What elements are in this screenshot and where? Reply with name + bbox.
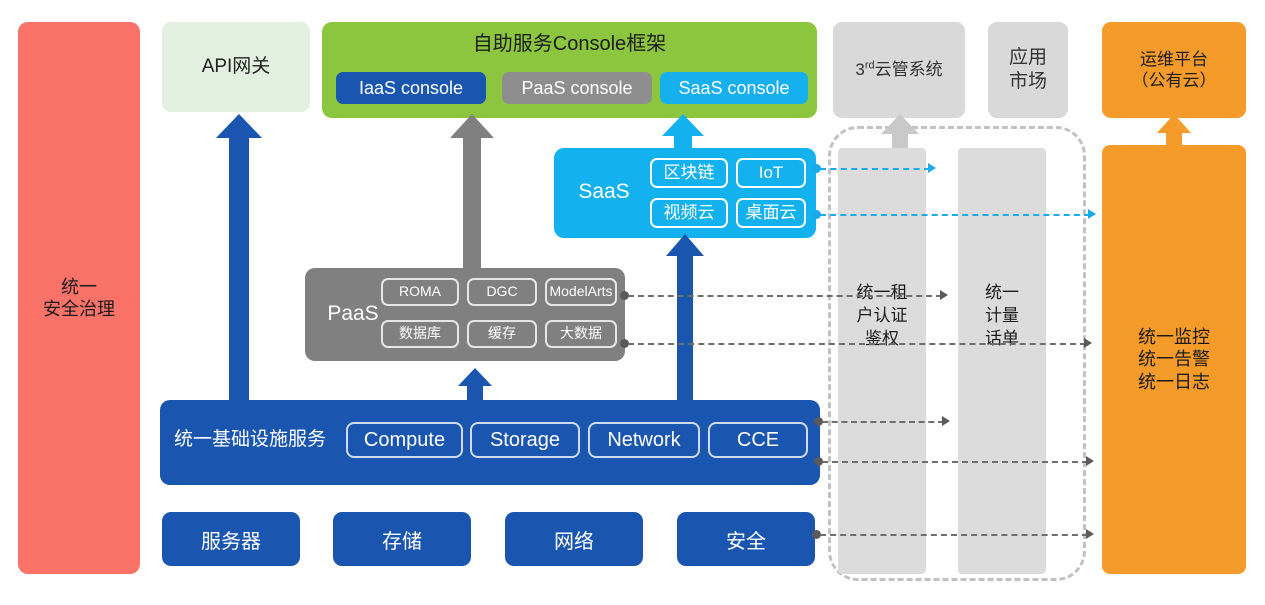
security-governance-line2: 安全治理	[43, 298, 115, 321]
app-market-label: 应用 市场	[1009, 46, 1047, 94]
saas-to-auth-arrowhead	[928, 163, 936, 173]
infra-chip-storage-label: Storage	[490, 428, 560, 453]
paas-chip-dgc-label: DGC	[486, 283, 517, 301]
tenant-auth-line2: 户认证	[838, 305, 926, 328]
tenant-auth-label: 统一租 户认证 鉴权	[838, 282, 926, 351]
infra-chip-compute-label: Compute	[364, 428, 445, 453]
saas-chip-blockchain[interactable]: 区块链	[650, 158, 728, 188]
infra-to-saas-arrow	[666, 234, 704, 406]
third-party-cloud-management-box[interactable]: 3rd云管系统	[833, 22, 965, 118]
resource-to-ops-dashed-line	[820, 534, 1088, 536]
resource-box-network[interactable]: 网络	[505, 512, 643, 566]
console-framework-box[interactable]: 自助服务Console框架 IaaS console PaaS console …	[322, 22, 817, 118]
saas-console-label: SaaS console	[678, 77, 789, 100]
saas-chip-desktop-cloud[interactable]: 桌面云	[736, 198, 806, 228]
saas-to-ops-arrowhead	[1088, 209, 1096, 219]
ops-alarm-label: 统一告警	[1138, 348, 1210, 371]
app-market-line1: 应用	[1009, 46, 1047, 70]
ops-platform-label: 运维平台 （公有云）	[1132, 49, 1217, 92]
saas-chip-blockchain-label: 区块链	[664, 162, 715, 183]
paas-console-chip[interactable]: PaaS console	[502, 72, 652, 104]
saas-block[interactable]: SaaS 区块链 IoT 视频云 桌面云	[554, 148, 816, 238]
iaas-console-chip[interactable]: IaaS console	[336, 72, 486, 104]
security-governance-panel[interactable]: 统一 安全治理	[18, 22, 140, 574]
paas-chip-bigdata-label: 大数据	[560, 325, 602, 343]
paas-label: PaaS	[315, 301, 391, 327]
infra-to-auth-arrowhead	[942, 416, 950, 426]
tenant-auth-line1: 统一租	[838, 282, 926, 305]
ops-platform-line1: 运维平台	[1132, 49, 1217, 70]
infra-to-ops-arrowhead	[1086, 456, 1094, 466]
ops-platform-line2: （公有云）	[1132, 70, 1217, 91]
resource-box-server[interactable]: 服务器	[162, 512, 300, 566]
resource-box-storage-label: 存储	[382, 525, 422, 554]
metering-line3: 话单	[958, 328, 1046, 351]
paas-chip-modelarts[interactable]: ModelArts	[545, 278, 617, 306]
saas-console-chip[interactable]: SaaS console	[660, 72, 808, 104]
paas-to-auth-dashed-line	[628, 295, 942, 297]
unified-infrastructure-label: 统一基础设施服务	[174, 428, 326, 452]
console-framework-title: 自助服务Console框架	[322, 32, 817, 57]
architecture-diagram: 统一 安全治理 API网关 自助服务Console框架 IaaS console…	[0, 0, 1265, 605]
infra-to-paas-arrow	[458, 368, 492, 406]
third-party-suffix: 云管系统	[875, 60, 943, 79]
third-party-sup: rd	[865, 60, 875, 72]
infra-chip-cce-label: CCE	[737, 428, 779, 453]
ops-body-to-ops-platform-arrow	[1157, 114, 1191, 150]
resource-box-network-label: 网络	[554, 525, 594, 554]
saas-chip-video-cloud-label: 视频云	[664, 202, 715, 223]
iaas-console-label: IaaS console	[359, 77, 463, 100]
paas-chip-cache-label: 缓存	[488, 325, 516, 343]
ops-monitoring-label: 统一监控	[1138, 326, 1210, 349]
infra-chip-storage[interactable]: Storage	[470, 422, 580, 458]
saas-chip-video-cloud[interactable]: 视频云	[650, 198, 728, 228]
ops-platform-box[interactable]: 运维平台 （公有云）	[1102, 22, 1246, 118]
metering-line1: 统一	[958, 282, 1046, 305]
tenant-auth-column[interactable]	[838, 148, 926, 574]
third-party-label: 3rd云管系统	[855, 59, 942, 80]
infra-chip-cce[interactable]: CCE	[708, 422, 808, 458]
paas-to-auth-arrowhead	[940, 290, 948, 300]
paas-to-ops-arrowhead	[1084, 338, 1092, 348]
api-gateway-box[interactable]: API网关	[162, 22, 310, 112]
security-governance-line1: 统一	[43, 276, 115, 299]
paas-chip-dgc[interactable]: DGC	[467, 278, 537, 306]
paas-chip-roma-label: ROMA	[399, 283, 441, 301]
infra-chip-network-label: Network	[607, 428, 680, 453]
infra-to-ops-dashed-line	[822, 461, 1088, 463]
paas-chip-database[interactable]: 数据库	[381, 320, 459, 348]
unified-infrastructure-block[interactable]: 统一基础设施服务 Compute Storage Network CCE	[160, 400, 820, 485]
ops-logging-label: 统一日志	[1138, 371, 1210, 394]
resource-box-storage[interactable]: 存储	[333, 512, 471, 566]
metering-column[interactable]	[958, 148, 1046, 574]
paas-chip-cache[interactable]: 缓存	[467, 320, 537, 348]
infra-chip-network[interactable]: Network	[588, 422, 700, 458]
paas-to-console-arrow	[450, 114, 494, 274]
app-market-box[interactable]: 应用 市场	[988, 22, 1068, 118]
saas-label: SaaS	[566, 179, 642, 205]
app-market-line2: 市场	[1009, 70, 1047, 94]
paas-block[interactable]: PaaS ROMA DGC ModelArts 数据库 缓存 大数据	[305, 268, 625, 361]
paas-chip-bigdata[interactable]: 大数据	[545, 320, 617, 348]
ops-capabilities-label: 统一监控 统一告警 统一日志	[1138, 326, 1210, 394]
paas-to-ops-dashed-line	[628, 343, 1086, 345]
infra-chip-compute[interactable]: Compute	[346, 422, 463, 458]
resource-to-ops-arrowhead	[1086, 529, 1094, 539]
resource-box-server-label: 服务器	[201, 525, 261, 554]
api-gateway-label: API网关	[202, 55, 271, 79]
resource-box-security-label: 安全	[726, 525, 766, 554]
infra-to-auth-dashed-line	[822, 421, 944, 423]
saas-chip-desktop-cloud-label: 桌面云	[746, 202, 797, 223]
saas-chip-iot[interactable]: IoT	[736, 158, 806, 188]
paas-chip-roma[interactable]: ROMA	[381, 278, 459, 306]
infra-to-api-arrow	[216, 114, 262, 406]
saas-to-auth-dashed-line	[820, 168, 930, 170]
paas-chip-modelarts-label: ModelArts	[549, 283, 612, 301]
tenant-auth-line3: 鉴权	[838, 328, 926, 351]
paas-console-label: PaaS console	[521, 77, 632, 100]
saas-to-console-arrow	[662, 114, 704, 154]
paas-chip-database-label: 数据库	[399, 325, 441, 343]
ops-capabilities-panel[interactable]: 统一监控 统一告警 统一日志	[1102, 145, 1246, 574]
metering-label: 统一 计量 话单	[958, 282, 1046, 351]
security-governance-label: 统一 安全治理	[43, 276, 115, 321]
metering-line2: 计量	[958, 305, 1046, 328]
saas-to-ops-dashed-line	[820, 214, 1090, 216]
container-to-third-party-arrow	[881, 114, 919, 148]
resource-box-security[interactable]: 安全	[677, 512, 815, 566]
third-party-prefix: 3	[855, 60, 864, 79]
saas-chip-iot-label: IoT	[759, 162, 784, 183]
